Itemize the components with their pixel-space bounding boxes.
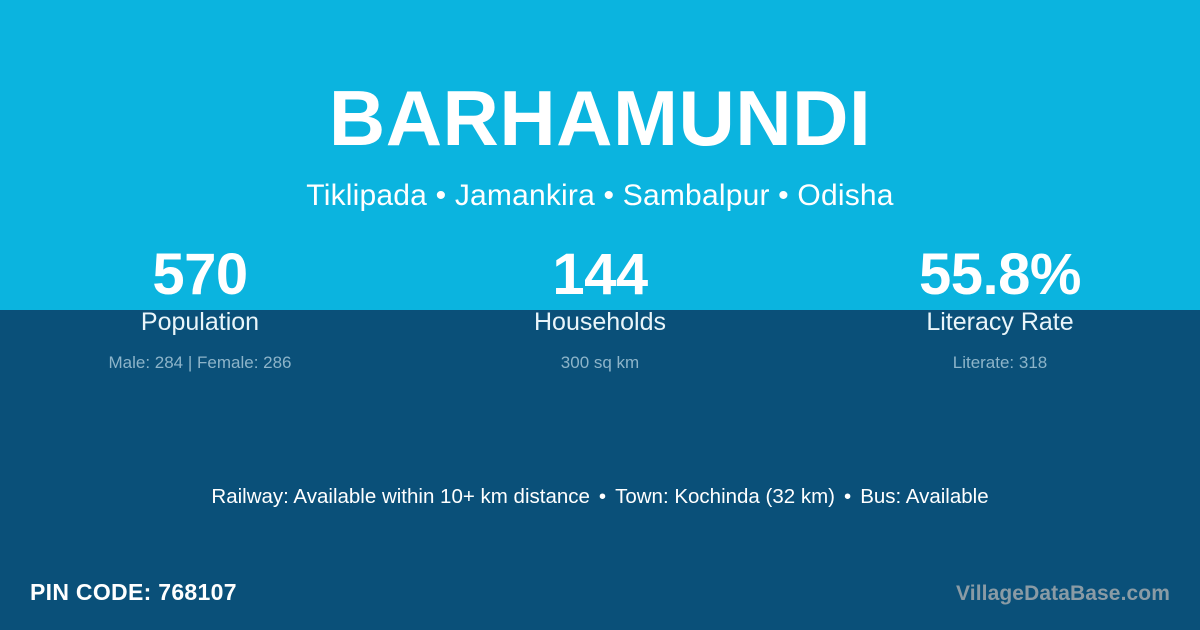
- stat-sublabel: 300 sq km: [400, 354, 800, 371]
- railway-info: Railway: Available within 10+ km distanc…: [211, 485, 590, 508]
- stat-households: 144 Households 300 sq km: [400, 240, 800, 371]
- town-info: Town: Kochinda (32 km): [615, 485, 835, 508]
- stat-population: 570 Population Male: 284 | Female: 286: [0, 240, 400, 371]
- stat-value: 144: [400, 240, 800, 310]
- stat-sublabel: Literate: 318: [800, 354, 1200, 371]
- stat-literacy-rate: 55.8% Literacy Rate Literate: 318: [800, 240, 1200, 371]
- stats-row: 570 Population Male: 284 | Female: 286 1…: [0, 240, 1200, 371]
- stat-label: Households: [400, 310, 800, 335]
- info-separator: •: [835, 485, 860, 508]
- info-separator: •: [590, 485, 615, 508]
- card-footer: PIN CODE: 768107 VillageDataBase.com: [0, 577, 1200, 630]
- stat-value: 570: [0, 240, 400, 310]
- breadcrumb: Tiklipada • Jamankira • Sambalpur • Odis…: [0, 181, 1200, 211]
- card-header: BARHAMUNDI Tiklipada • Jamankira • Samba…: [0, 0, 1200, 211]
- stat-value: 55.8%: [800, 240, 1200, 310]
- stat-sublabel: Male: 284 | Female: 286: [0, 354, 400, 371]
- village-info-card: BARHAMUNDI Tiklipada • Jamankira • Samba…: [0, 0, 1200, 630]
- bus-info: Bus: Available: [860, 485, 988, 508]
- page-title: BARHAMUNDI: [0, 79, 1200, 157]
- stat-label: Literacy Rate: [800, 310, 1200, 335]
- brand-watermark: VillageDataBase.com: [956, 583, 1170, 604]
- pin-code: PIN CODE: 768107: [30, 581, 237, 604]
- connectivity-info: Railway: Available within 10+ km distanc…: [0, 487, 1200, 508]
- stat-label: Population: [0, 310, 400, 335]
